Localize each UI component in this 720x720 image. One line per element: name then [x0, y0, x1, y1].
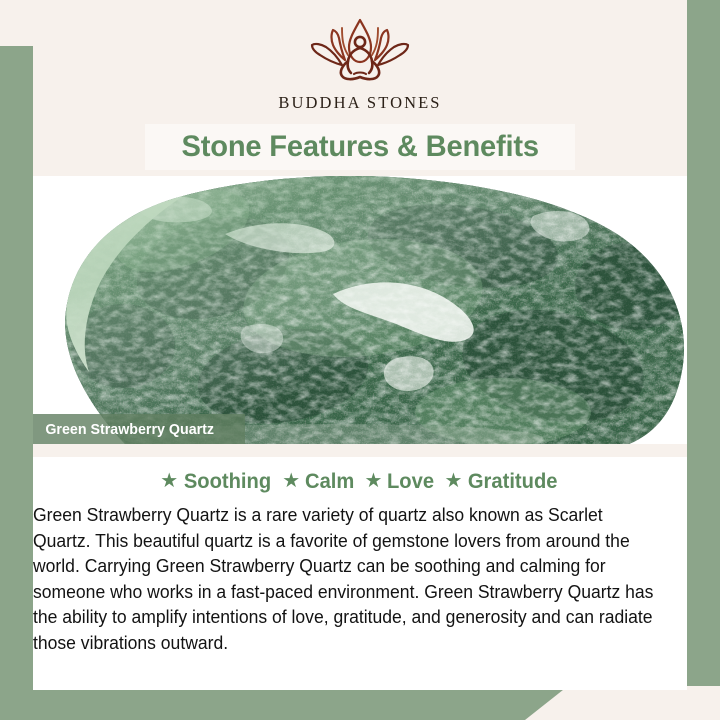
star-icon: ★ — [282, 471, 300, 491]
benefits-list: ★ Soothing ★ Calm ★ Love ★ Gratitude — [33, 470, 687, 494]
lotus-meditation-icon — [285, 14, 435, 92]
benefit-item: ★ Love — [364, 470, 435, 494]
benefit-label: Soothing — [184, 470, 271, 494]
page-title-band: Stone Features & Benefits — [145, 124, 575, 170]
gemstone-photo: Green Strawberry Quartz — [33, 176, 687, 444]
green-strawberry-quartz-image — [33, 176, 687, 444]
page-title: Stone Features & Benefits — [181, 130, 538, 164]
benefit-item: ★ Calm — [282, 470, 355, 494]
poster-body: ★ Soothing ★ Calm ★ Love ★ Gratitude Gre… — [33, 457, 687, 690]
star-icon: ★ — [444, 471, 462, 491]
benefit-label: Gratitude — [468, 470, 558, 494]
star-icon: ★ — [160, 471, 178, 491]
benefit-item: ★ Soothing — [160, 470, 273, 494]
benefit-label: Calm — [305, 470, 354, 494]
benefit-label: Love — [387, 470, 434, 494]
stone-benefits-poster: BUDDHA STONES Stone Features & Benefits — [0, 0, 720, 720]
brand-wordmark: BUDDHA STONES — [278, 93, 441, 113]
benefit-item: ★ Gratitude — [444, 470, 559, 494]
brand-logo: BUDDHA STONES — [33, 14, 687, 113]
stone-description: Green Strawberry Quartz is a rare variet… — [33, 503, 678, 656]
photo-caption: Green Strawberry Quartz — [33, 421, 214, 438]
content-card: BUDDHA STONES Stone Features & Benefits — [33, 0, 687, 690]
star-icon: ★ — [364, 471, 382, 491]
poster-header: BUDDHA STONES Stone Features & Benefits — [33, 0, 687, 176]
photo-caption-band: Green Strawberry Quartz — [33, 414, 245, 444]
section-divider — [33, 444, 687, 457]
